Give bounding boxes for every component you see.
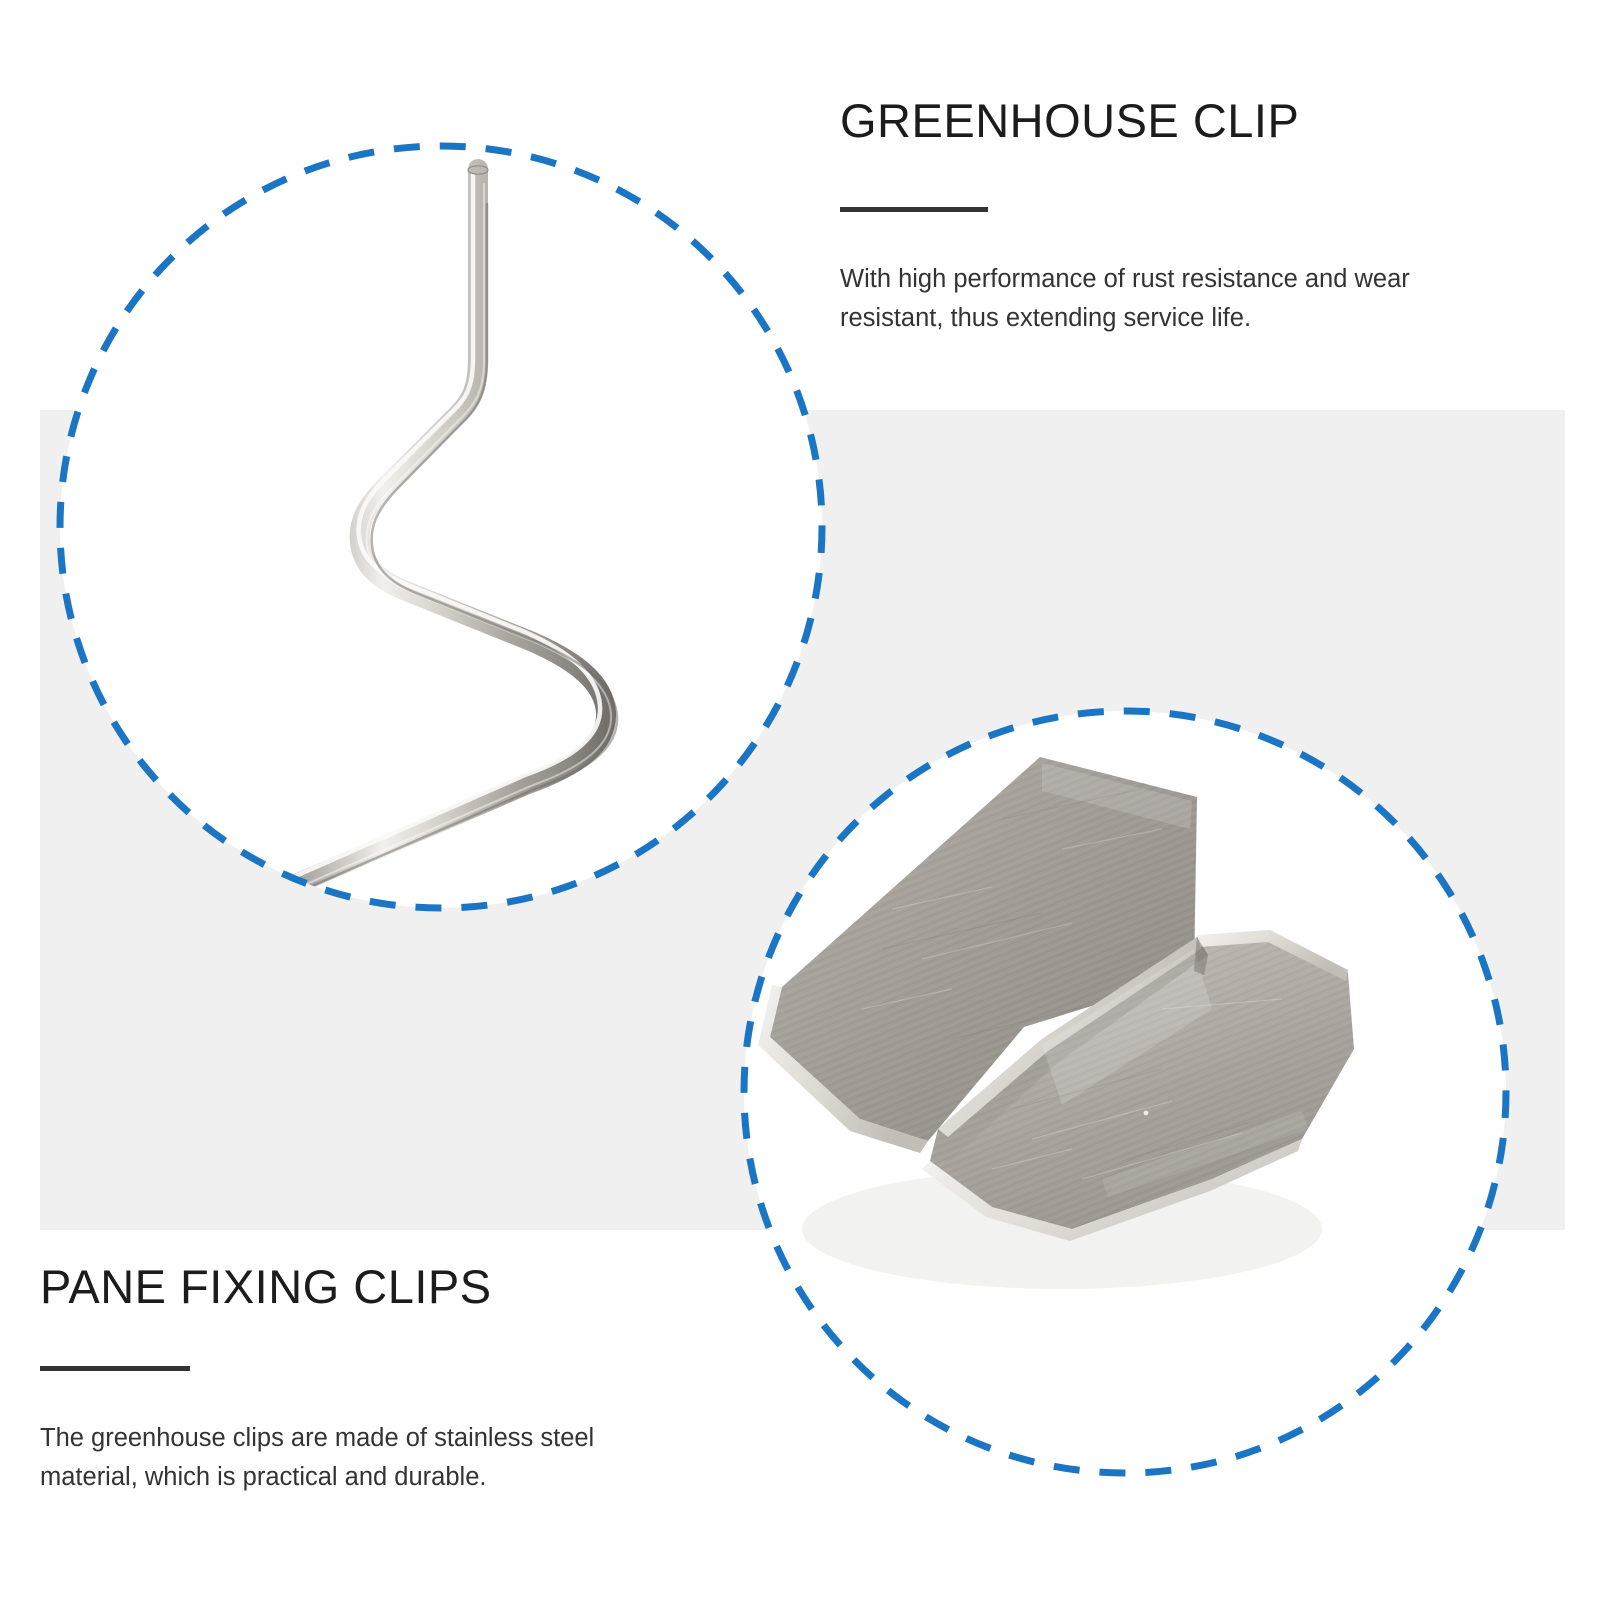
pane-rule — [40, 1366, 190, 1371]
figure-sheet-clip — [742, 709, 1508, 1475]
circle-background — [60, 146, 822, 908]
pane-description: The greenhouse clips are made of stainle… — [40, 1419, 680, 1497]
greenhouse-text-block: GREENHOUSE CLIP With high performance of… — [840, 96, 1440, 338]
figure-wire-clip — [58, 144, 824, 910]
pane-text-block: PANE FIXING CLIPS The greenhouse clips a… — [40, 1262, 720, 1497]
greenhouse-description: With high performance of rust resistance… — [840, 260, 1420, 338]
greenhouse-heading: GREENHOUSE CLIP — [840, 96, 1440, 145]
wire-top-tip — [468, 166, 488, 174]
product-infographic: GREENHOUSE CLIP With high performance of… — [0, 0, 1600, 1600]
pane-heading: PANE FIXING CLIPS — [40, 1262, 720, 1311]
greenhouse-rule — [840, 207, 988, 212]
